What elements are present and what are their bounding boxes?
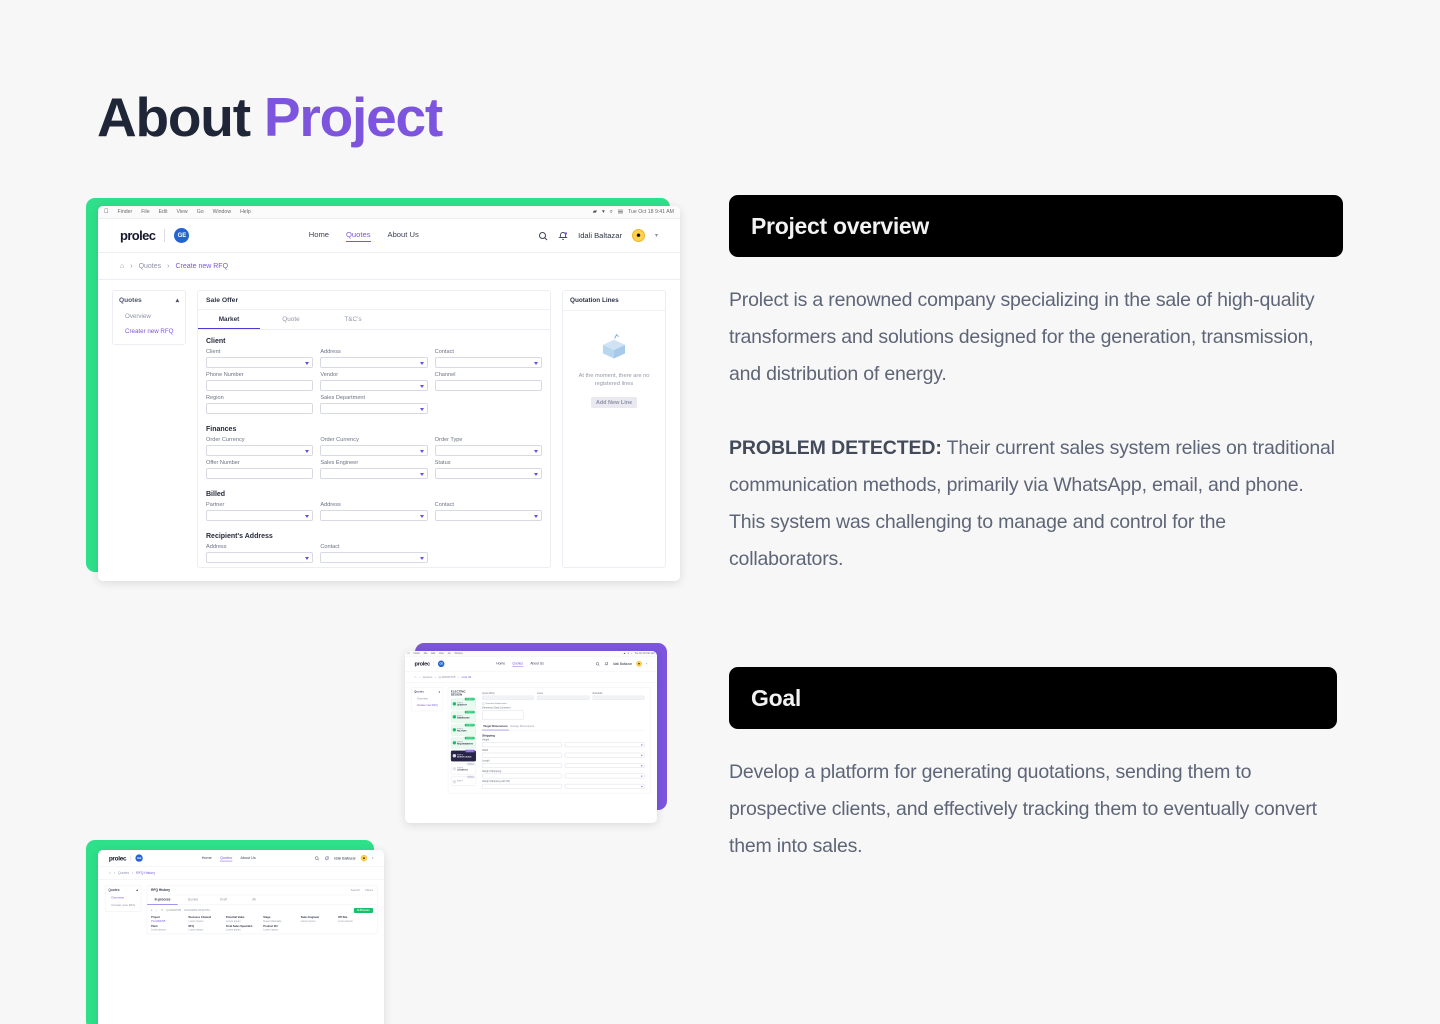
field-input[interactable] <box>435 510 542 521</box>
cell-rfq: RFQLorem ipsum <box>189 925 224 932</box>
quotation-lines-panel: Quotation Lines At the moment, there are… <box>562 290 666 568</box>
field-length: Length <box>482 760 562 768</box>
field-status: Status <box>435 460 542 479</box>
nav-link-about-us[interactable]: About Us <box>530 661 544 666</box>
field-sales-department: Sales Department <box>320 395 427 414</box>
nav-link-home[interactable]: Home <box>202 855 212 861</box>
field-weight-shipping: Weight (Shipping) <box>482 770 562 778</box>
empty-box-icon <box>597 333 631 363</box>
ge-badge-icon: GE <box>438 661 444 667</box>
avatar[interactable]: ☻ <box>632 229 645 242</box>
bell-icon[interactable] <box>604 662 608 666</box>
tab-in-process[interactable]: In process <box>147 895 178 904</box>
tab-draft[interactable]: Draft <box>208 895 239 904</box>
subtab-design-dimensions[interactable]: Design Dimensions <box>509 722 536 730</box>
field-channel: Channel <box>435 372 542 391</box>
field-label: Contact <box>435 349 542 355</box>
field-row: Offer Number Sales Engineer Status <box>198 460 550 483</box>
step-title: QUANTITY <box>457 704 474 707</box>
tab-tcs[interactable]: T&C's <box>322 310 384 329</box>
field-input[interactable] <box>206 403 313 414</box>
field-lines: Lines <box>537 692 589 700</box>
field-label: Status <box>435 460 542 466</box>
field-row: Width <box>479 749 648 759</box>
page-title: About Project <box>97 84 442 150</box>
search-icon: ⌕ <box>610 209 613 216</box>
step-card[interactable]: PendingSTEP 7 <box>451 777 476 786</box>
column-header: Stage <box>263 916 298 919</box>
step-card[interactable]: CompletedSTEP 4REQUIREMENTS <box>451 738 476 749</box>
textarea-input[interactable] <box>482 710 524 720</box>
chevron-down-icon[interactable]: ▾ <box>655 232 658 239</box>
user-name-label: Idali Baltazar <box>578 231 622 240</box>
nav-link-home[interactable]: Home <box>309 230 329 242</box>
crumb-sep-1: › <box>114 872 115 875</box>
avatar[interactable]: ☻ <box>636 661 642 667</box>
field-value <box>482 696 534 700</box>
goal-bar: Goal <box>729 667 1337 729</box>
status-badge: In Process <box>354 908 373 913</box>
column-header: Sales Engineer <box>301 916 336 919</box>
crumb-sep-2: › <box>132 872 133 875</box>
quotation-lines-empty-state: At the moment, there are no registered l… <box>563 311 665 420</box>
menubar-item-view[interactable]: View <box>177 209 188 215</box>
field-row: Height <box>479 739 648 749</box>
battery-icon: ▰ <box>624 652 626 655</box>
tab-quote[interactable]: Quote <box>260 310 322 329</box>
chevron-up-icon[interactable]: ▴ <box>439 690 440 693</box>
step-title: DIMENSIONS <box>457 717 474 720</box>
tab-all[interactable]: All <box>239 895 270 904</box>
quotation-lines-empty-text: At the moment, there are no registered l… <box>572 372 656 388</box>
step-status-icon <box>453 780 456 783</box>
field-input[interactable] <box>435 380 542 391</box>
field-label: Order Type <box>435 437 542 443</box>
field-input[interactable] <box>435 468 542 479</box>
sidebar-item-create-new-rfq[interactable]: Creater new RFQ <box>108 902 138 909</box>
step-badge: Completed <box>465 711 475 714</box>
chevron-up-icon[interactable]: ▴ <box>136 888 138 892</box>
chevron-down-icon[interactable]: ▾ <box>646 662 647 665</box>
field-label: Offer Number <box>206 460 313 466</box>
column-header: Project <box>151 916 186 919</box>
prolec-logo: prolec <box>415 661 430 667</box>
field-address: Address <box>320 349 427 368</box>
field-label: Order Currency <box>206 437 313 443</box>
field-input[interactable] <box>482 774 562 779</box>
field-input[interactable] <box>206 510 313 521</box>
group-title-client: Client <box>198 330 550 349</box>
field-input[interactable] <box>320 445 427 456</box>
field-label: Width <box>482 749 562 752</box>
menubar-item-finder[interactable]: Finder <box>118 209 133 215</box>
field-phone-number: Phone Number <box>206 372 313 391</box>
field-input[interactable] <box>206 357 313 368</box>
macos-menubar-1:  Finder File Edit View Go Window Help ▰… <box>98 206 680 219</box>
cell-spacer <box>301 925 336 932</box>
prolec-logo: prolec <box>109 854 126 861</box>
field-input[interactable] <box>206 552 313 563</box>
goal-body: Develop a platform for generating quotat… <box>729 754 1337 865</box>
step-title: REQUIREMENTS <box>457 743 474 746</box>
goal-section: Goal Develop a platform for generating q… <box>729 667 1337 865</box>
battery-icon: ▰ <box>593 209 597 215</box>
menubar-item-view[interactable]: View <box>439 652 444 655</box>
field-length-unit <box>565 760 645 768</box>
search-icon[interactable] <box>596 662 600 666</box>
field-label: Address <box>320 502 427 508</box>
field-label: Weight (Shipping with Oil) <box>482 780 562 783</box>
mockup-rfq-history: prolec GE Home Quotes About Us <box>86 840 386 1024</box>
step-card[interactable]: CompletedSTEP 3FACTORS <box>451 725 476 736</box>
field-input[interactable] <box>482 763 562 768</box>
field-label: Weight (Shipping) <box>482 770 562 773</box>
column-header: Product BU <box>263 925 298 928</box>
sidebar-title: Quotes <box>414 690 424 693</box>
field-input[interactable] <box>206 468 313 479</box>
nav-right-1: Idali Baltazar ☻ ▾ <box>538 229 658 242</box>
checkbox-icon <box>482 702 484 704</box>
breadcrumb-1: ⌂› Quotes› Create new RFQ <box>98 253 680 280</box>
wifi-icon: ▾ <box>602 209 605 215</box>
apple-icon:  <box>104 209 109 215</box>
column-header: Business Channel <box>189 916 224 919</box>
field-input[interactable] <box>320 380 427 391</box>
menubar-item-window[interactable]: Window <box>455 652 463 655</box>
crumb-sep-2: › <box>167 263 169 270</box>
field-row: Weight (Shipping) <box>479 770 648 780</box>
user-name-label: Idali Baltazar <box>334 856 356 860</box>
sidebar-1: Quotes ▴ Overview Creater new RFQ <box>112 290 186 345</box>
field-input[interactable] <box>320 468 427 479</box>
field-label: Dimension Data Comment <box>482 707 524 710</box>
breadcrumb-item-quotes[interactable]: Quotes <box>139 263 162 270</box>
menubar-item-help[interactable]: Help <box>240 209 251 215</box>
menubar-status-icons: ▰ ▾ ⌕ Tue Oct 18 9:41 AM <box>624 652 655 655</box>
browser-window-3: prolec GE Home Quotes About Us <box>98 850 384 1024</box>
field-label: Contact <box>320 544 427 550</box>
step-card[interactable]: PendingSTEP 6LOGISTICS <box>451 764 476 775</box>
bell-icon[interactable] <box>558 231 568 241</box>
cell-stage: StageNuevo Mercado <box>263 916 298 923</box>
field-order-type: Order Type <box>435 437 542 456</box>
page-title-part-2: Project <box>264 86 442 148</box>
wifi-icon: ▾ <box>628 652 629 655</box>
field-input[interactable] <box>565 763 645 768</box>
field-label: Region <box>206 395 313 401</box>
field-input[interactable] <box>482 742 562 747</box>
field-input[interactable] <box>320 403 427 414</box>
cell-plant: PlantLorem ipsum <box>151 925 186 932</box>
field-empty <box>435 395 542 414</box>
cell-value: Lorem ipsum <box>226 920 261 923</box>
app-navbar-1: prolec GE Home Quotes About Us Idali Bal… <box>98 219 680 253</box>
subtab-target-dimensions[interactable]: Target Dimensions <box>482 722 509 730</box>
detail-top-fields: Quote RFQ Lines Schedule <box>479 690 648 702</box>
field-row: Order Currency Order Currency Order Type <box>198 437 550 460</box>
menubar-item-go[interactable]: Go <box>448 652 451 655</box>
panel-title-sale-offer: Sale Offer <box>198 291 550 310</box>
field-input[interactable] <box>482 784 562 789</box>
breadcrumb-item-quote-id[interactable]: Q-00000705 <box>439 676 456 679</box>
cell-value: Lorem ipsum <box>263 929 298 932</box>
field-input[interactable] <box>320 357 427 368</box>
field-label: Sales Engineer <box>320 460 427 466</box>
field-row: Region Sales Department <box>198 395 550 418</box>
field-weight-shipping-oil: Weight (Shipping with Oil) <box>482 780 562 788</box>
project-overview-bar-label: Project overview <box>751 213 929 240</box>
menubar-item-edit[interactable]: Edit <box>159 209 168 215</box>
nav-link-quotes[interactable]: Quotes <box>346 230 370 242</box>
nav-links-3: Home Quotes About Us <box>202 855 256 861</box>
field-input[interactable] <box>320 552 427 563</box>
nav-right-3: Idali Baltazar ☻ ▾ <box>315 855 374 861</box>
row-checkbox[interactable]: ☐ <box>161 909 163 912</box>
nav-link-home[interactable]: Home <box>496 661 505 666</box>
breadcrumb-item-line: Line #1 <box>462 676 472 679</box>
detail-textarea-row: Dimension Data Comment <box>479 707 648 722</box>
problem-detected-lead: PROBLEM DETECTED: <box>729 437 942 459</box>
field-vendor: Vendor <box>320 372 427 391</box>
nav-links-1: Home Quotes About Us <box>309 230 419 242</box>
breadcrumb-2: ⌂› Quotes› Q-00000705› Line #1 <box>405 671 657 683</box>
step-status-icon <box>453 754 456 757</box>
bell-icon[interactable] <box>324 856 329 861</box>
menubar-item-file[interactable]: File <box>424 652 428 655</box>
rfq-tabs: In process Quoted Draft All <box>147 895 377 905</box>
nav-link-about-us[interactable]: About Us <box>240 855 255 861</box>
table-row: PlantLorem ipsum RFQLorem ipsum Final Sa… <box>147 925 377 934</box>
sidebar-item-overview[interactable]: Overview <box>119 309 179 324</box>
search-icon[interactable] <box>315 856 320 861</box>
table-row: ProjectPC-0000705 Business ChannelLorem … <box>147 916 377 925</box>
sidebar-item-create-new-rfq[interactable]: Creater new RFQ <box>119 324 179 339</box>
field-label: Contact <box>435 502 542 508</box>
group-title-recipients-address: Recipient's Address <box>198 525 550 544</box>
field-recipient-contact: Contact <box>320 544 427 563</box>
breadcrumb-item-quotes[interactable]: Quotes <box>423 676 433 679</box>
field-row: Partner Address Contact <box>198 502 550 525</box>
field-height: Height <box>482 739 562 747</box>
sale-offer-panel: Sale Offer Market Quote T&C's Client Cli… <box>197 290 551 568</box>
chevron-up-icon[interactable]: ▴ <box>176 296 179 304</box>
rfq-history-header: RFQ History Search Filters <box>147 885 377 895</box>
step-badge: Completed <box>465 698 475 701</box>
field-label: Sales Department <box>320 395 427 401</box>
menubar-item-window[interactable]: Window <box>213 209 231 215</box>
step-status-icon <box>453 728 456 731</box>
step-status-icon <box>453 702 456 705</box>
sidebar-title: Quotes <box>119 297 142 304</box>
field-input[interactable] <box>206 380 313 391</box>
sidebar-item-create-new-rfq[interactable]: Creater new RFQ <box>414 702 440 708</box>
field-offer-number: Offer Number <box>206 460 313 479</box>
column-header: Plant <box>151 925 186 928</box>
home-icon[interactable]: ⌂ <box>120 263 124 270</box>
field-value <box>537 696 589 700</box>
field-order-currency-1: Order Currency <box>206 437 313 456</box>
window-content-2:  Finder File Edit View Go Window ▰ ▾ ⌕ … <box>405 651 657 823</box>
group-title-finances: Finances <box>198 418 550 437</box>
field-weight-unit <box>565 770 645 778</box>
field-input[interactable] <box>320 510 427 521</box>
step-card[interactable]: CompletedSTEP 2DIMENSIONS <box>451 712 476 723</box>
step-badge: In process <box>465 750 475 753</box>
goal-bar-label: Goal <box>751 685 801 712</box>
field-input[interactable] <box>565 784 645 789</box>
field-row: Address Contact <box>198 544 550 567</box>
step-card-current[interactable]: In processSTEP 5DESIGN GUIDE <box>451 751 476 762</box>
panel-title-rfq-history: RFQ History <box>151 888 170 891</box>
field-region: Region <box>206 395 313 414</box>
column-header: Final Sales Specialist <box>226 925 261 928</box>
menubar-status-icons: ▰ ▾ ⌕ ▤ Tue Oct 18 9:41 AM <box>593 209 674 216</box>
field-label: Quote RFQ <box>482 692 534 695</box>
nav-links-2: Home Quotes About Us <box>496 661 544 666</box>
electric-design-panel: ELECTRIC DESIGN CompletedSTEP 1QUANTITY … <box>448 687 651 794</box>
menubar-item-file[interactable]: File <box>141 209 149 215</box>
field-label: Height <box>482 739 562 742</box>
field-row: Phone Number Vendor Channel <box>198 372 550 395</box>
menu-icon[interactable]: ⋮ <box>155 909 158 912</box>
row-toolbar: ▾ ⋮ ☐ Q-00000705 10/12/2022 04:00 PM In … <box>147 905 377 916</box>
chevron-down-icon[interactable]: ▾ <box>372 856 373 859</box>
field-input[interactable] <box>565 774 645 779</box>
step-title: DESIGN GUIDE <box>457 756 474 759</box>
crumb-sep-1: › <box>419 676 420 679</box>
checkbox-label: Generate Replications <box>486 702 507 705</box>
goal-paragraph-1: Develop a platform for generating quotat… <box>729 754 1337 865</box>
search-icon[interactable] <box>538 231 548 241</box>
step-badge: Completed <box>465 737 475 740</box>
apple-icon:  <box>408 652 410 655</box>
step-status-icon <box>453 741 456 744</box>
cell-value: Lorem ipsum <box>226 929 261 932</box>
field-label: Address <box>320 349 427 355</box>
field-sales-engineer: Sales Engineer <box>320 460 427 479</box>
prolec-logo: prolec <box>120 228 155 243</box>
field-label: Client <box>206 349 313 355</box>
sidebar-header-1[interactable]: Quotes ▴ <box>119 296 179 309</box>
field-input[interactable] <box>435 357 542 368</box>
project-overview-bar: Project overview <box>729 195 1343 257</box>
avatar[interactable]: ☻ <box>361 855 367 861</box>
field-label: Schedule <box>592 692 644 695</box>
crumb-sep-1: › <box>130 263 132 270</box>
menubar-clock: Tue Oct 18 9:41 AM <box>635 652 655 655</box>
breadcrumb-item-rfq-history: RFQ History <box>136 872 155 875</box>
step-badge: Pending <box>467 776 475 779</box>
menubar-item-edit[interactable]: Edit <box>431 652 435 655</box>
add-new-line-button[interactable]: Add New Line <box>591 397 637 408</box>
step-status-icon <box>453 767 456 770</box>
field-width: Width <box>482 749 562 757</box>
app-navbar-2: prolec GE Home Quotes About Us <box>405 657 657 672</box>
user-name-label: Idali Baltazar <box>613 662 632 666</box>
field-row: Weight (Shipping with Oil) <box>479 780 648 790</box>
sidebar-item-overview[interactable]: Overview <box>108 894 138 901</box>
nav-right-2: Idali Baltazar ☻ ▾ <box>596 661 648 667</box>
field-billed-address: Address <box>320 502 427 521</box>
cell-value: PC-0000705 <box>151 920 186 923</box>
field-label: Order Currency <box>320 437 427 443</box>
row-date: 10/12/2022 04:00 PM <box>184 909 209 912</box>
nav-link-quotes[interactable]: Quotes <box>512 661 523 666</box>
home-icon[interactable]: ⌂ <box>109 872 111 875</box>
field-partner: Partner <box>206 502 313 521</box>
mockup-line-design:  Finder File Edit View Go Window ▰ ▾ ⌕ … <box>405 643 667 823</box>
field-value <box>592 696 644 700</box>
filters-action[interactable]: Filters <box>365 889 373 892</box>
step-card[interactable]: CompletedSTEP 1QUANTITY <box>451 699 476 710</box>
field-input[interactable] <box>565 742 645 747</box>
field-weight-oil-unit <box>565 780 645 788</box>
logo-divider <box>164 229 165 242</box>
home-icon[interactable]: ⌂ <box>415 676 417 679</box>
breadcrumb-item-quotes[interactable]: Quotes <box>118 872 129 875</box>
search-action[interactable]: Search <box>351 889 360 892</box>
cell-value: Lorem ipsum <box>189 929 224 932</box>
menubar-item-go[interactable]: Go <box>197 209 204 215</box>
browser-window-1:  Finder File Edit View Go Window Help ▰… <box>98 206 680 581</box>
app-body-3: Quotes ▴ Overview Creater new RFQ RFQ Hi… <box>98 880 384 939</box>
about-project-page: About Project Project overview Prolect i… <box>0 0 1440 1024</box>
overview-paragraph-1: Prolect is a renowned company specializi… <box>729 282 1343 393</box>
expand-icon[interactable]: ▾ <box>151 909 152 912</box>
field-label: Lines <box>537 692 589 695</box>
field-label: Channel <box>435 372 542 378</box>
project-overview-body: Prolect is a renowned company specializi… <box>729 282 1343 578</box>
ge-badge-icon: GE <box>174 228 189 243</box>
quotation-lines-title: Quotation Lines <box>563 291 665 311</box>
field-input[interactable] <box>206 445 313 456</box>
column-header: RFQ <box>189 925 224 928</box>
panel-actions: Search Filters <box>351 889 373 892</box>
page-title-part-1: About <box>97 86 250 148</box>
crumb-sep-2: › <box>435 676 436 679</box>
step-detail: Quote RFQ Lines Schedule Generate Replic… <box>479 690 648 790</box>
step-key: STEP 7 <box>457 780 474 782</box>
breadcrumb-item-current: Create new RFQ <box>176 263 229 270</box>
cell-product-bu: Product BULorem ipsum <box>263 925 298 932</box>
app-body-2: Quotes ▴ Overview Creater new RFQ ELECTR… <box>405 683 657 798</box>
field-input[interactable] <box>435 445 542 456</box>
crumb-sep-3: › <box>458 676 459 679</box>
sidebar-title: Quotes <box>108 888 119 891</box>
nav-link-quotes[interactable]: Quotes <box>220 855 232 861</box>
step-badge: Pending <box>467 763 475 766</box>
group-title-billed: Billed <box>198 483 550 502</box>
menubar-item-finder[interactable]: Finder <box>413 652 419 655</box>
app-navbar-3: prolec GE Home Quotes About Us <box>98 850 384 867</box>
control-center-icon: ▤ <box>618 209 623 215</box>
step-status-icon <box>453 715 456 718</box>
sidebar-3: Quotes ▴ Overview Creater new RFQ <box>105 885 141 912</box>
column-header: Potential Value <box>226 916 261 919</box>
field-order-currency-2: Order Currency <box>320 437 427 456</box>
field-label: Address <box>206 544 313 550</box>
column-header: Off Site <box>338 916 373 919</box>
tab-quoted[interactable]: Quoted <box>178 895 209 904</box>
nav-link-about-us[interactable]: About Us <box>388 230 419 242</box>
field-input[interactable] <box>482 753 562 758</box>
field-input[interactable] <box>565 753 645 758</box>
search-icon: ⌕ <box>631 652 632 655</box>
tab-market[interactable]: Market <box>198 310 260 329</box>
cell-sales-engineer: Sales EngineerLorem ipsum <box>301 916 336 923</box>
window-content-3: prolec GE Home Quotes About Us <box>98 850 384 1024</box>
field-row: Length <box>479 760 648 770</box>
